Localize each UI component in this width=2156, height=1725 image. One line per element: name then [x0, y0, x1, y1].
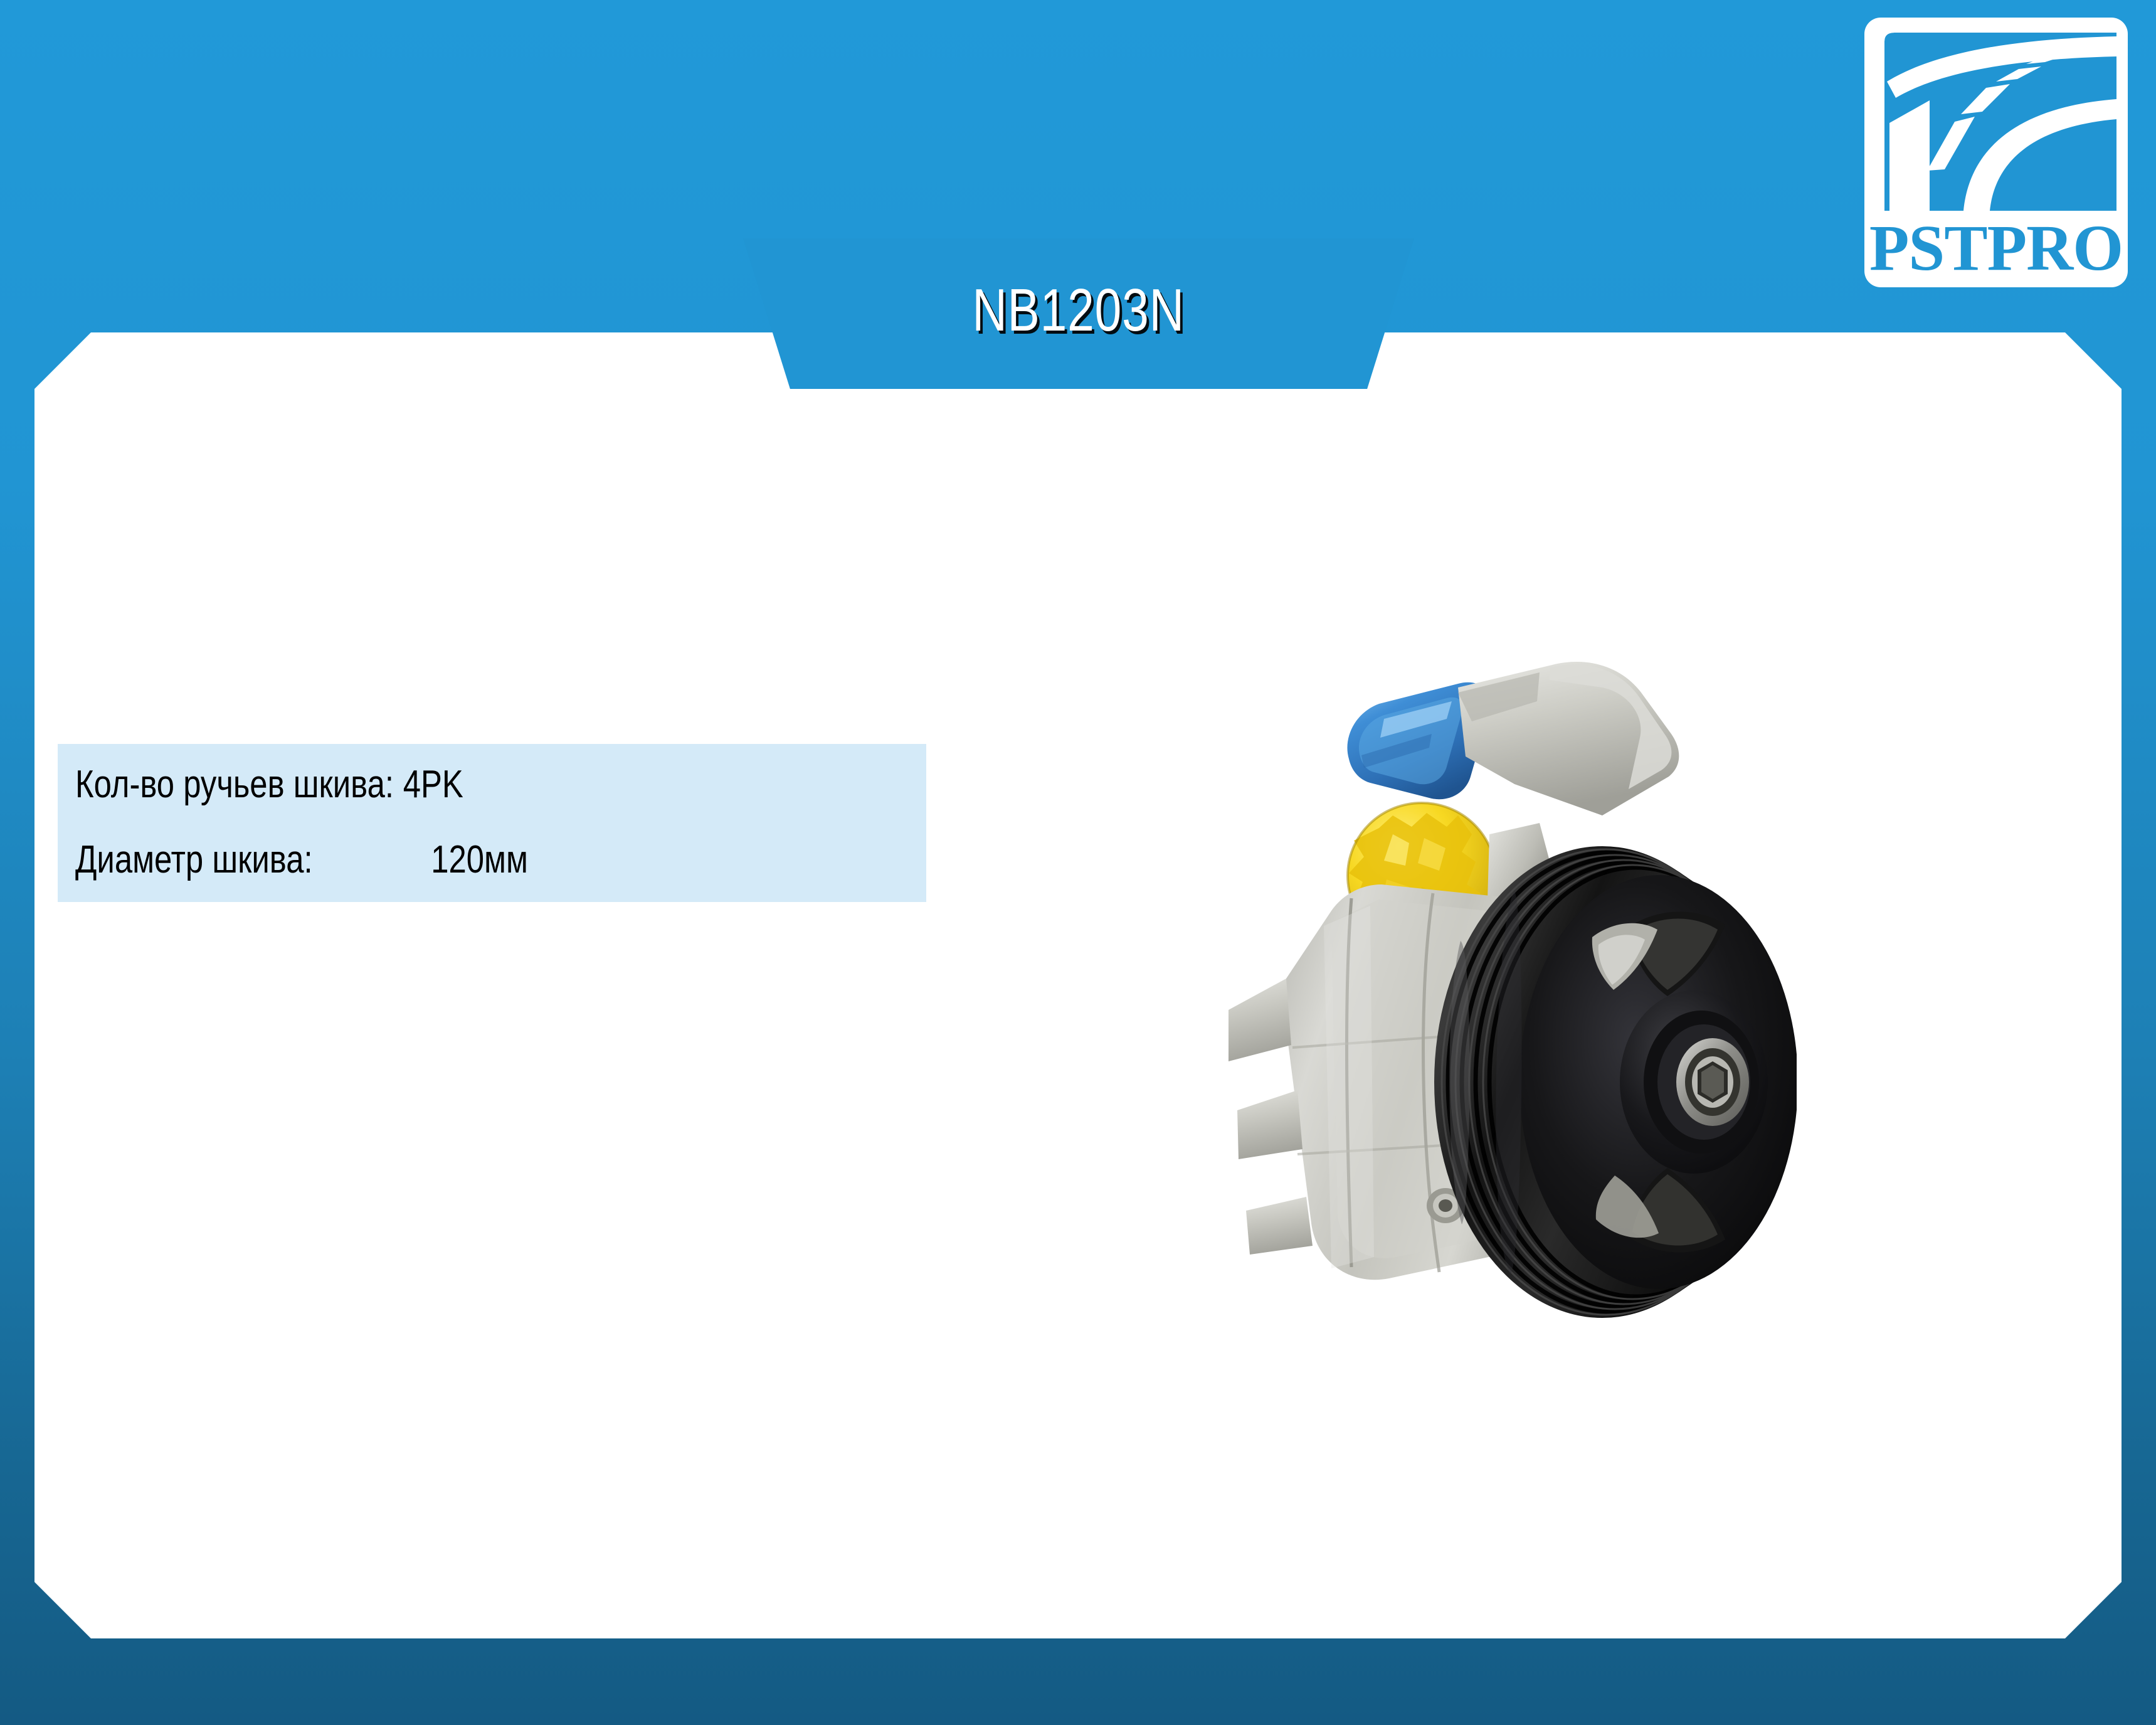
- spec-value-pulley-grooves: 4PK: [403, 765, 463, 804]
- page-title: NB1203N: [973, 280, 1185, 347]
- pulley-4pk: [1434, 846, 1797, 1318]
- spec-label-pulley-grooves: Кол-во ручьев шкива:: [75, 765, 394, 804]
- brand-wordmark: PSTPRO: [1864, 216, 2128, 281]
- spec-row: Кол-во ручьев шкива: 4PK: [75, 765, 773, 804]
- spec-label-pulley-diameter: Диаметр шкива:: [75, 841, 313, 879]
- pump-housing-upper: [1458, 662, 1679, 815]
- product-image-power-steering-pump: [1163, 627, 1797, 1324]
- power-steering-pump-illustration: [1163, 627, 1797, 1324]
- specifications-box: Кол-во ручьев шкива: 4PK Диаметр шкива: …: [58, 744, 926, 902]
- content-panel: [34, 332, 2122, 1638]
- brand-logo: PSTPRO: [1864, 18, 2128, 287]
- spec-value-pulley-diameter: 120мм: [431, 841, 528, 879]
- highway-road-icon: [1876, 28, 2116, 216]
- spec-row: Диаметр шкива: 120мм: [75, 841, 773, 879]
- part-number-banner: NB1203N: [743, 238, 1414, 389]
